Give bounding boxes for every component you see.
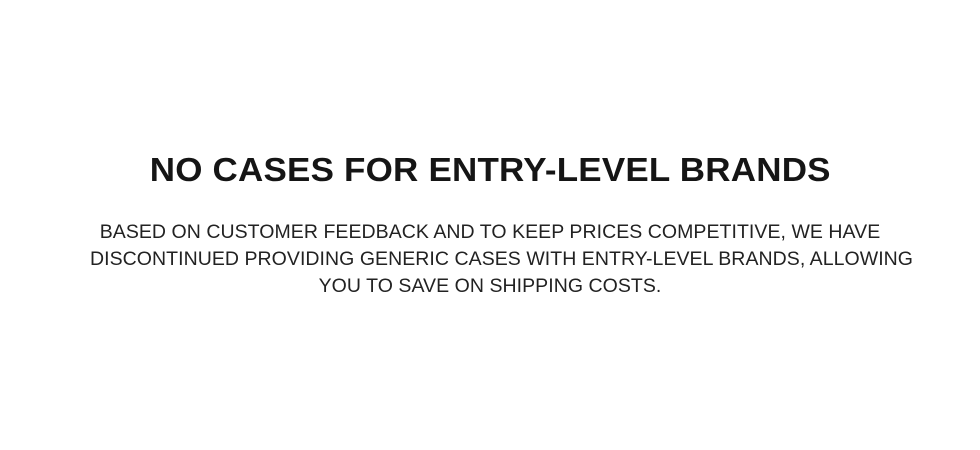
banner-body-text: BASED ON CUSTOMER FEEDBACK AND TO KEEP P…	[90, 190, 890, 300]
body-line: DISCONTINUED PROVIDING GENERIC CASES WIT…	[90, 246, 890, 273]
banner-heading: NO CASES FOR ENTRY-LEVEL BRANDS	[150, 150, 831, 190]
promo-banner: NO CASES FOR ENTRY-LEVEL BRANDS BASED ON…	[0, 0, 980, 450]
body-line: BASED ON CUSTOMER FEEDBACK AND TO KEEP P…	[90, 219, 890, 246]
body-line: YOU TO SAVE ON SHIPPING COSTS.	[90, 273, 890, 300]
